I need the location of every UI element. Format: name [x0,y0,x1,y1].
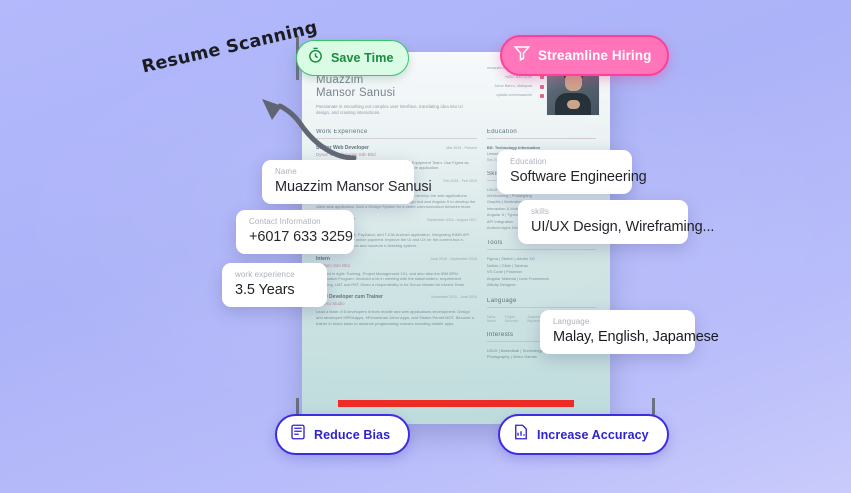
extracted-card-contact: Contact Information +6017 633 3259 [236,210,354,254]
resume-job: Lead Developer cum Trainer November 2015… [316,294,477,326]
card-key: work experience [235,270,314,279]
job-dates: June 2016 - September 2016 [430,257,477,261]
card-value: +6017 633 3259 [249,229,341,245]
language-item: MalayNative [487,314,496,323]
document-chart-icon [512,423,530,446]
extracted-card-education: Education Software Engineering [497,150,632,194]
resume-job: Intern June 2016 - September 2016 Paytse… [316,256,477,288]
increase-accuracy-label: Increase Accuracy [537,428,649,442]
resume-contact-location: Johor Bahru, Malaysia [487,84,532,88]
language-item: EnglishModerate [505,314,518,323]
curved-arrow-icon [250,92,360,167]
stopwatch-icon [307,47,324,69]
card-key: Name [275,167,401,176]
resume-language-heading: Language [487,298,596,304]
link-icon [540,94,544,98]
extracted-card-work-experience: work experience 3.5 Years [222,263,327,307]
interest-line: Photography | Video Games [487,354,596,360]
promo-illustration: Muazzim Mansor Sanusi Passionate in smoo… [0,0,851,493]
increase-accuracy-badge[interactable]: Increase Accuracy [498,414,669,455]
extracted-card-name: Name Muazzim Mansor Sanusi [262,160,414,204]
job-dates: Feb 2018 - Feb 2019 [443,179,477,183]
streamline-hiring-label: Streamline Hiring [538,48,651,63]
save-time-badge[interactable]: Save Time [296,40,409,76]
card-value: UI/UX Design, Wireframing... [531,219,675,235]
job-dates: November 2015 - June 2016 [431,295,477,299]
location-icon [540,85,544,89]
extracted-card-skills: skills UI/UX Design, Wireframing... [518,200,688,244]
extracted-card-language: Language Malay, English, Japamese [540,310,695,354]
card-value: 3.5 Years [235,282,314,298]
resume-scanning-label: Resume Scanning [140,18,320,78]
card-value: Muazzim Mansor Sanusi [275,179,401,195]
resume-education-heading: Education [487,129,596,135]
reduce-bias-badge[interactable]: Reduce Bias [275,414,410,455]
tool-item: Affinity Designer [487,282,596,288]
job-dates: Mar 2019 - Present [446,146,477,150]
document-scan-icon [289,423,307,446]
card-key: Language [553,317,682,326]
job-dates: September 2016 - August 2017 [427,218,477,222]
scan-progress-bar [338,400,574,407]
streamline-hiring-badge[interactable]: Streamline Hiring [500,35,669,76]
reduce-bias-label: Reduce Bias [314,428,390,442]
save-time-label: Save Time [331,51,394,65]
funnel-icon [513,44,531,67]
card-key: skills [531,207,675,216]
job-body: Lead a team of 8 developers in both mobi… [316,309,477,326]
job-title: Intern [316,256,330,262]
job-company: Paytsen Sdn Bhd [316,263,477,268]
card-key: Contact Information [249,217,341,226]
card-value: Malay, English, Japamese [553,329,682,345]
resume-contact-website: upside.com/muazzim [487,93,532,97]
job-body: Involved in Agile Training, Project Mana… [316,271,477,288]
job-company: Kuhesu Studio [316,301,477,306]
card-value: Software Engineering [510,169,619,185]
card-key: Education [510,157,619,166]
